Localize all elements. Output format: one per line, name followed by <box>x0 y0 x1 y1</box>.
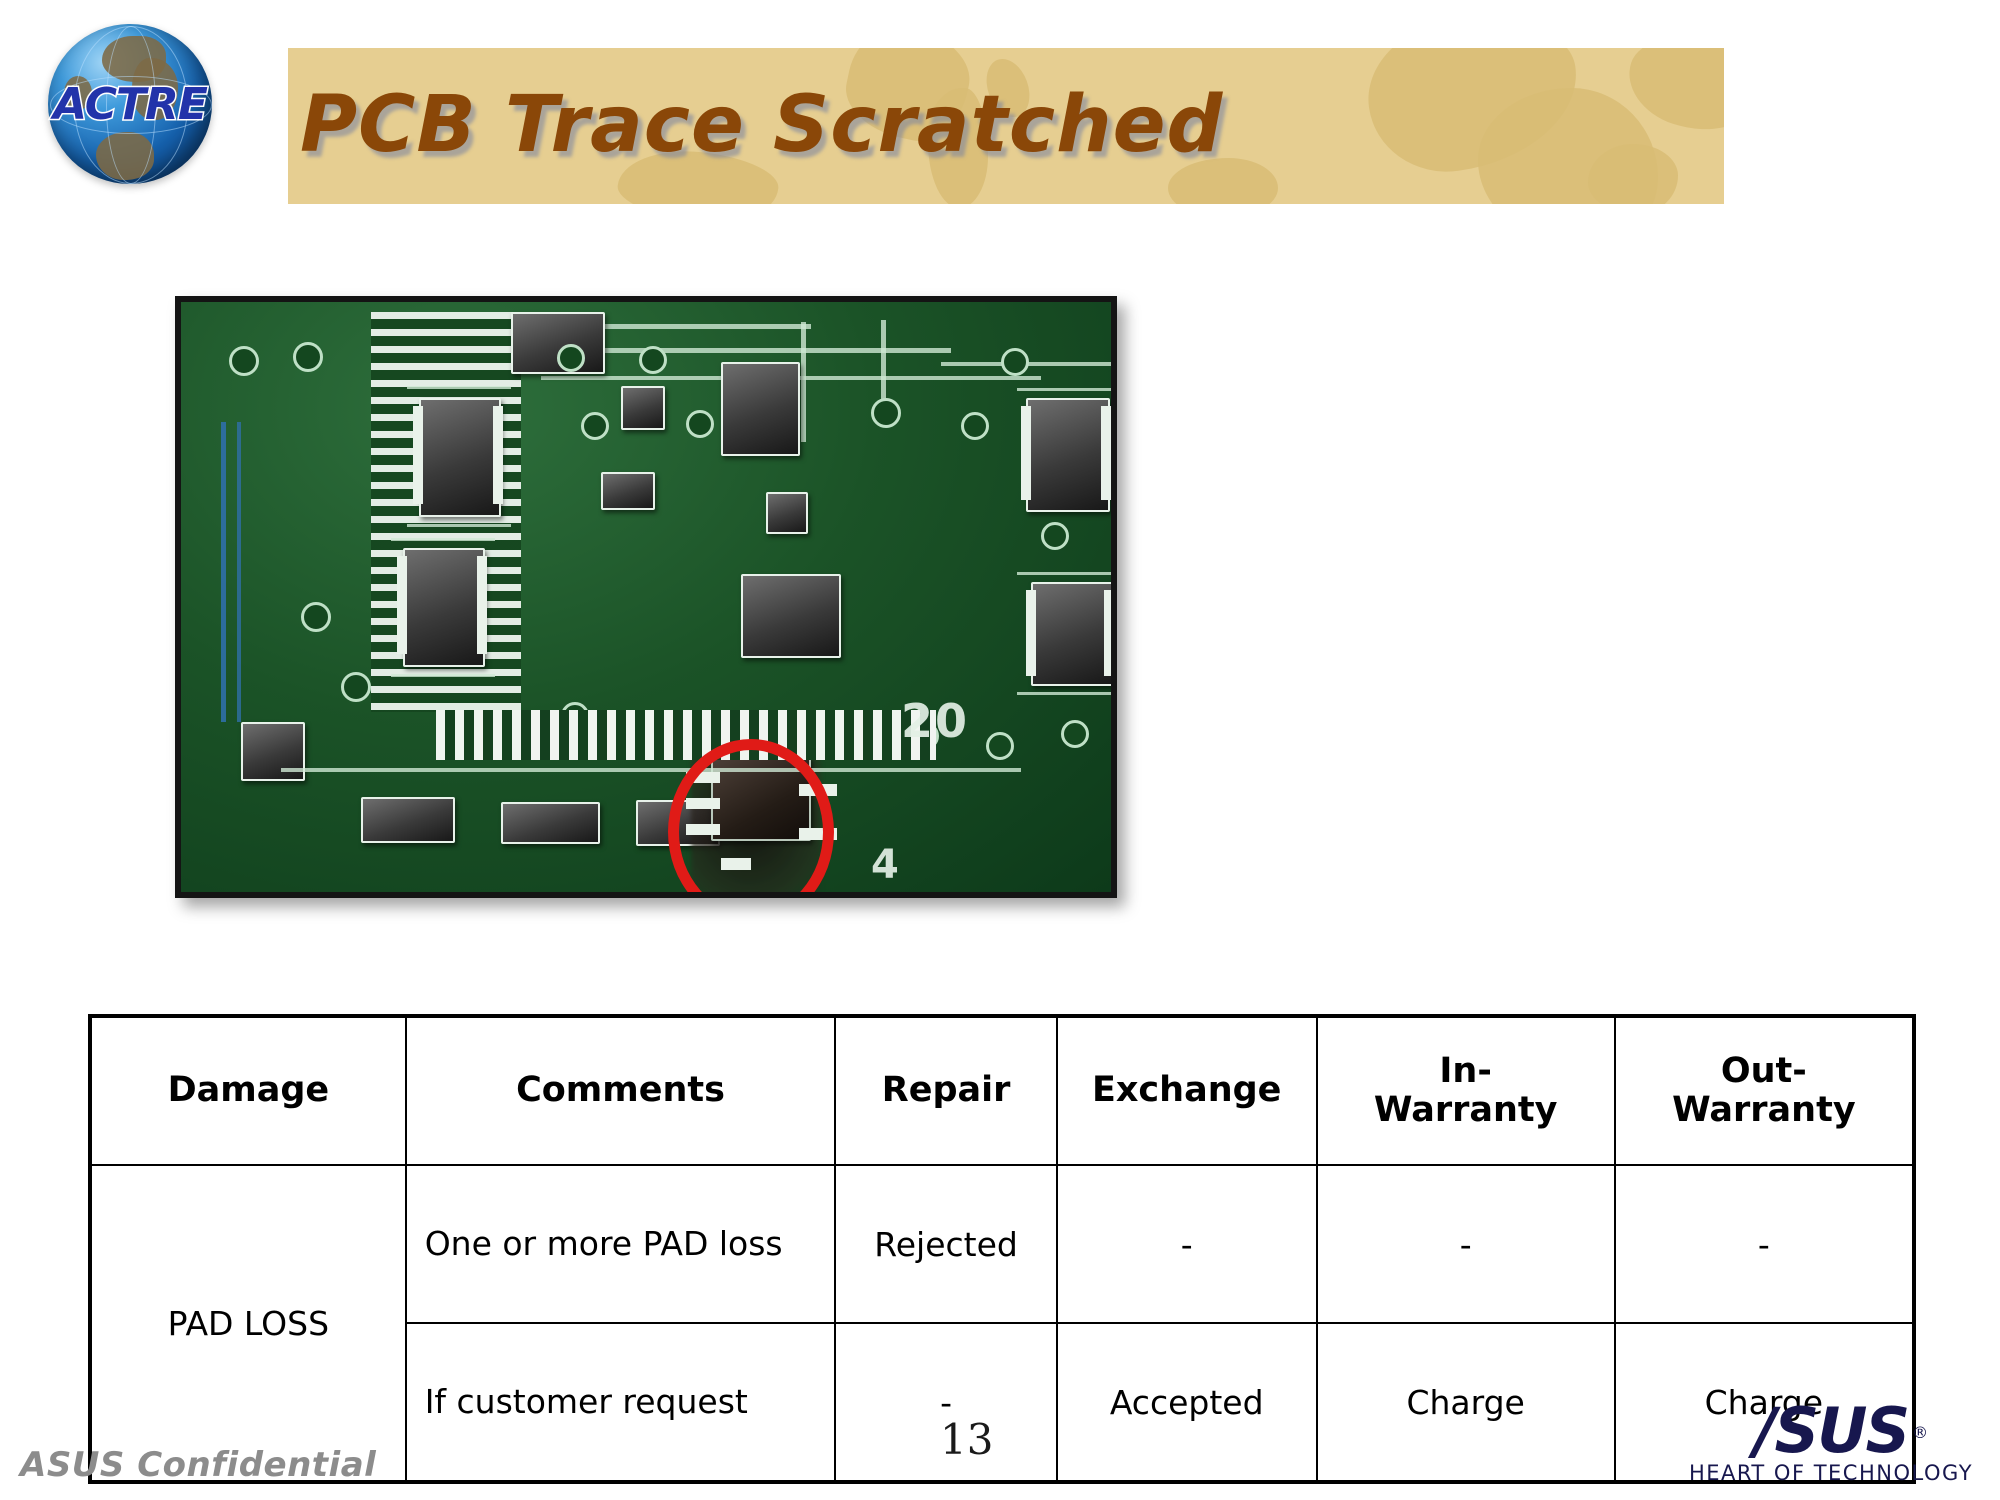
pcb-trace <box>941 362 1117 366</box>
pcb-chip <box>621 386 665 430</box>
column-header-repair: Repair <box>835 1016 1056 1165</box>
pcb-chip <box>361 797 455 843</box>
asus-wordmark: /SUS ® <box>1754 1402 1908 1460</box>
pcb-via-pad <box>871 398 901 428</box>
cell-in-warranty-row1: - <box>1317 1165 1615 1323</box>
table-row: PAD LOSS One or more PAD loss Rejected -… <box>90 1165 1914 1323</box>
pcb-chip-pin <box>477 556 487 654</box>
cell-out-warranty-row1: - <box>1615 1165 1914 1323</box>
actre-logo: ACTRE <box>44 22 216 187</box>
out-warranty-line2: Warranty <box>1672 1090 1856 1130</box>
cell-exchange-row1: - <box>1057 1165 1317 1323</box>
pcb-chip <box>1031 582 1113 686</box>
in-warranty-line1: In- <box>1439 1051 1491 1091</box>
column-header-out-warranty: Out- Warranty <box>1615 1016 1914 1165</box>
column-header-comments: Comments <box>406 1016 836 1165</box>
cell-comments-row1: One or more PAD loss <box>406 1165 836 1323</box>
pcb-silk-outline <box>1017 572 1117 575</box>
pcb-chip <box>741 574 841 658</box>
pcb-silk-outline <box>391 674 495 677</box>
cell-damage-pad-loss: PAD LOSS <box>90 1165 406 1482</box>
pcb-chip <box>1026 398 1110 512</box>
pcb-edge-connector <box>436 710 936 760</box>
pcb-via-pad <box>341 672 371 702</box>
actre-wordmark: ACTRE <box>44 79 216 130</box>
pcb-via-pad <box>301 602 331 632</box>
pcb-silk-outline <box>281 768 1021 772</box>
pcb-via-pad <box>639 346 667 374</box>
table-header-row: Damage Comments Repair Exchange In- Warr… <box>90 1016 1914 1165</box>
pcb-silkscreen-label-20: 20 <box>901 694 969 748</box>
pcb-via-pad <box>686 410 714 438</box>
cell-exchange-row2: Accepted <box>1057 1323 1317 1482</box>
pcb-via-pad <box>1001 348 1029 376</box>
pcb-chip <box>501 802 600 844</box>
pcb-trace <box>237 422 241 722</box>
pcb-chip-pin <box>493 406 503 504</box>
in-warranty-line2: Warranty <box>1374 1090 1558 1130</box>
asus-wordmark-text: /SUS <box>1754 1394 1908 1467</box>
pcb-via-pad <box>986 732 1014 760</box>
page-title: PCB Trace Scratched <box>300 55 1350 195</box>
pcb-silk-outline <box>1017 692 1117 695</box>
pcb-silkscreen-label-4: 4 <box>871 842 899 888</box>
pcb-chip-pin <box>1101 406 1111 500</box>
pcb-chip-pin <box>1026 590 1036 676</box>
pcb-chip <box>403 548 485 667</box>
pcb-via-pad <box>1041 522 1069 550</box>
pcb-silk-outline <box>391 538 495 541</box>
pcb-silk-outline <box>407 386 511 389</box>
pcb-via-pad <box>229 346 259 376</box>
pcb-chip-pin <box>397 556 407 654</box>
pcb-damage-photo: 20 4 <box>175 296 1117 898</box>
pcb-via-pad <box>581 412 609 440</box>
pcb-via-pad <box>1061 720 1089 748</box>
cell-in-warranty-row2: Charge <box>1317 1323 1615 1482</box>
pcb-chip-pin <box>1021 406 1031 500</box>
cell-repair-row1: Rejected <box>835 1165 1056 1323</box>
pcb-trace <box>881 320 886 410</box>
pcb-trace <box>801 322 806 442</box>
pcb-chip <box>419 398 501 517</box>
confidential-notice: ASUS Confidential <box>20 1445 376 1485</box>
pcb-chip <box>766 492 808 534</box>
pcb-silk-outline <box>1017 388 1117 391</box>
pcb-via-pad <box>293 342 323 372</box>
pcb-chip <box>601 472 655 510</box>
column-header-damage: Damage <box>90 1016 406 1165</box>
pcb-chip-pin <box>413 406 423 504</box>
warranty-policy-table: Damage Comments Repair Exchange In- Warr… <box>88 1014 1916 1484</box>
out-warranty-line1: Out- <box>1721 1051 1807 1091</box>
column-header-exchange: Exchange <box>1057 1016 1317 1165</box>
pcb-chip <box>241 722 305 781</box>
column-header-in-warranty: In- Warranty <box>1317 1016 1615 1165</box>
pcb-chip <box>721 362 800 456</box>
pcb-via-pad <box>961 412 989 440</box>
asus-logo: /SUS ® HEART OF TECHNOLOGY <box>1676 1402 1986 1494</box>
cell-comments-row2: If customer request <box>406 1323 836 1482</box>
pcb-trace <box>221 422 226 722</box>
registered-trademark-icon: ® <box>1912 1404 1926 1462</box>
pcb-silk-outline <box>407 524 511 527</box>
page-number: 13 <box>940 1415 993 1464</box>
pcb-chip-pin <box>1104 590 1114 676</box>
pcb-via-pad <box>557 344 585 372</box>
